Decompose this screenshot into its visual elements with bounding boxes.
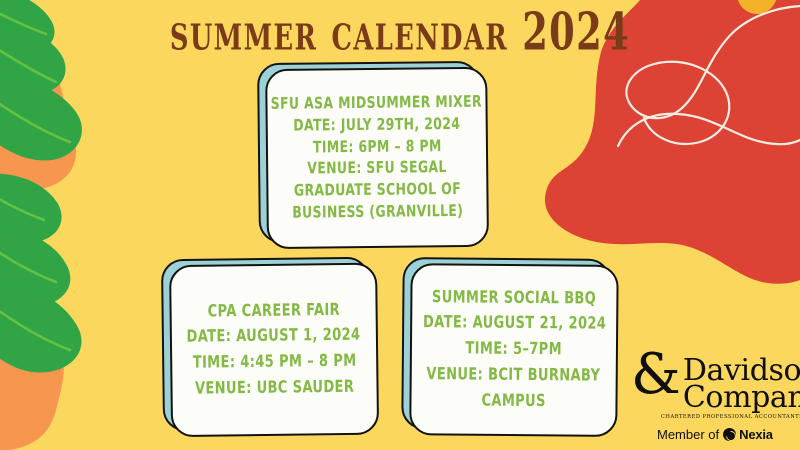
event-venue: VENUE: UBC SAUDER bbox=[195, 379, 354, 398]
event-venue-1: VENUE: BCIT BURNABY bbox=[427, 366, 601, 385]
logo-line-company: Company bbox=[683, 384, 800, 412]
member-of-label: Member of bbox=[657, 427, 719, 442]
nexia-label: Nexia bbox=[739, 427, 773, 442]
event-card-sfu-asa-midsummer-mixer[interactable]: SFU ASA MIDSUMMER MIXER DATE: JULY 29TH,… bbox=[257, 61, 481, 243]
card-face: CPA CAREER FAIR DATE: AUGUST 1, 2024 TIM… bbox=[169, 263, 379, 438]
davidson-company-logo: & Davidson Company CHARTERED PROFESSIONA… bbox=[631, 357, 800, 442]
logo-word-stack: Davidson Company bbox=[683, 357, 800, 412]
event-venue-3: BUSINESS (GRANVILLE) bbox=[292, 203, 463, 221]
page-title: Summer Calendar 2024 bbox=[32, 2, 768, 62]
event-card-summer-social-bbq[interactable]: SUMMER SOCIAL BBQ DATE: AUGUST 21, 2024 … bbox=[401, 257, 610, 431]
event-venue-1: VENUE: SFU SEGAL bbox=[307, 160, 447, 178]
nexia-logo-icon bbox=[723, 428, 736, 441]
event-title: CPA CAREER FAIR bbox=[207, 302, 340, 321]
card-face: SFU ASA MIDSUMMER MIXER DATE: JULY 29TH,… bbox=[265, 67, 489, 249]
event-venue-2: CAMPUS bbox=[481, 393, 545, 411]
event-time: TIME: 6PM – 8 PM bbox=[312, 138, 441, 156]
event-date: DATE: AUGUST 1, 2024 bbox=[187, 327, 361, 346]
card-face: SUMMER SOCIAL BBQ DATE: AUGUST 21, 2024 … bbox=[409, 263, 618, 437]
poster-canvas: Summer Calendar 2024 SFU ASA MIDSUMMER M… bbox=[0, 0, 800, 450]
nexia-member-badge: Member of Nexia bbox=[657, 427, 800, 442]
event-venue-2: GRADUATE SCHOOL OF bbox=[294, 182, 461, 200]
event-date: DATE: JULY 29TH, 2024 bbox=[293, 116, 460, 134]
event-title: SFU ASA MIDSUMMER MIXER bbox=[271, 94, 482, 113]
logo-wordmark: & Davidson Company bbox=[631, 357, 800, 412]
event-title: SUMMER SOCIAL BBQ bbox=[432, 289, 596, 308]
logo-tagline: CHARTERED PROFESSIONAL ACCOUNTANTS bbox=[661, 414, 800, 420]
event-date: DATE: AUGUST 21, 2024 bbox=[422, 315, 605, 334]
event-card-cpa-career-fair[interactable]: CPA CAREER FAIR DATE: AUGUST 1, 2024 TIM… bbox=[161, 257, 371, 432]
event-time: TIME: 4:45 PM – 8 PM bbox=[192, 353, 356, 372]
event-time: TIME: 5–7PM bbox=[466, 341, 563, 359]
ampersand-icon: & bbox=[631, 353, 681, 397]
